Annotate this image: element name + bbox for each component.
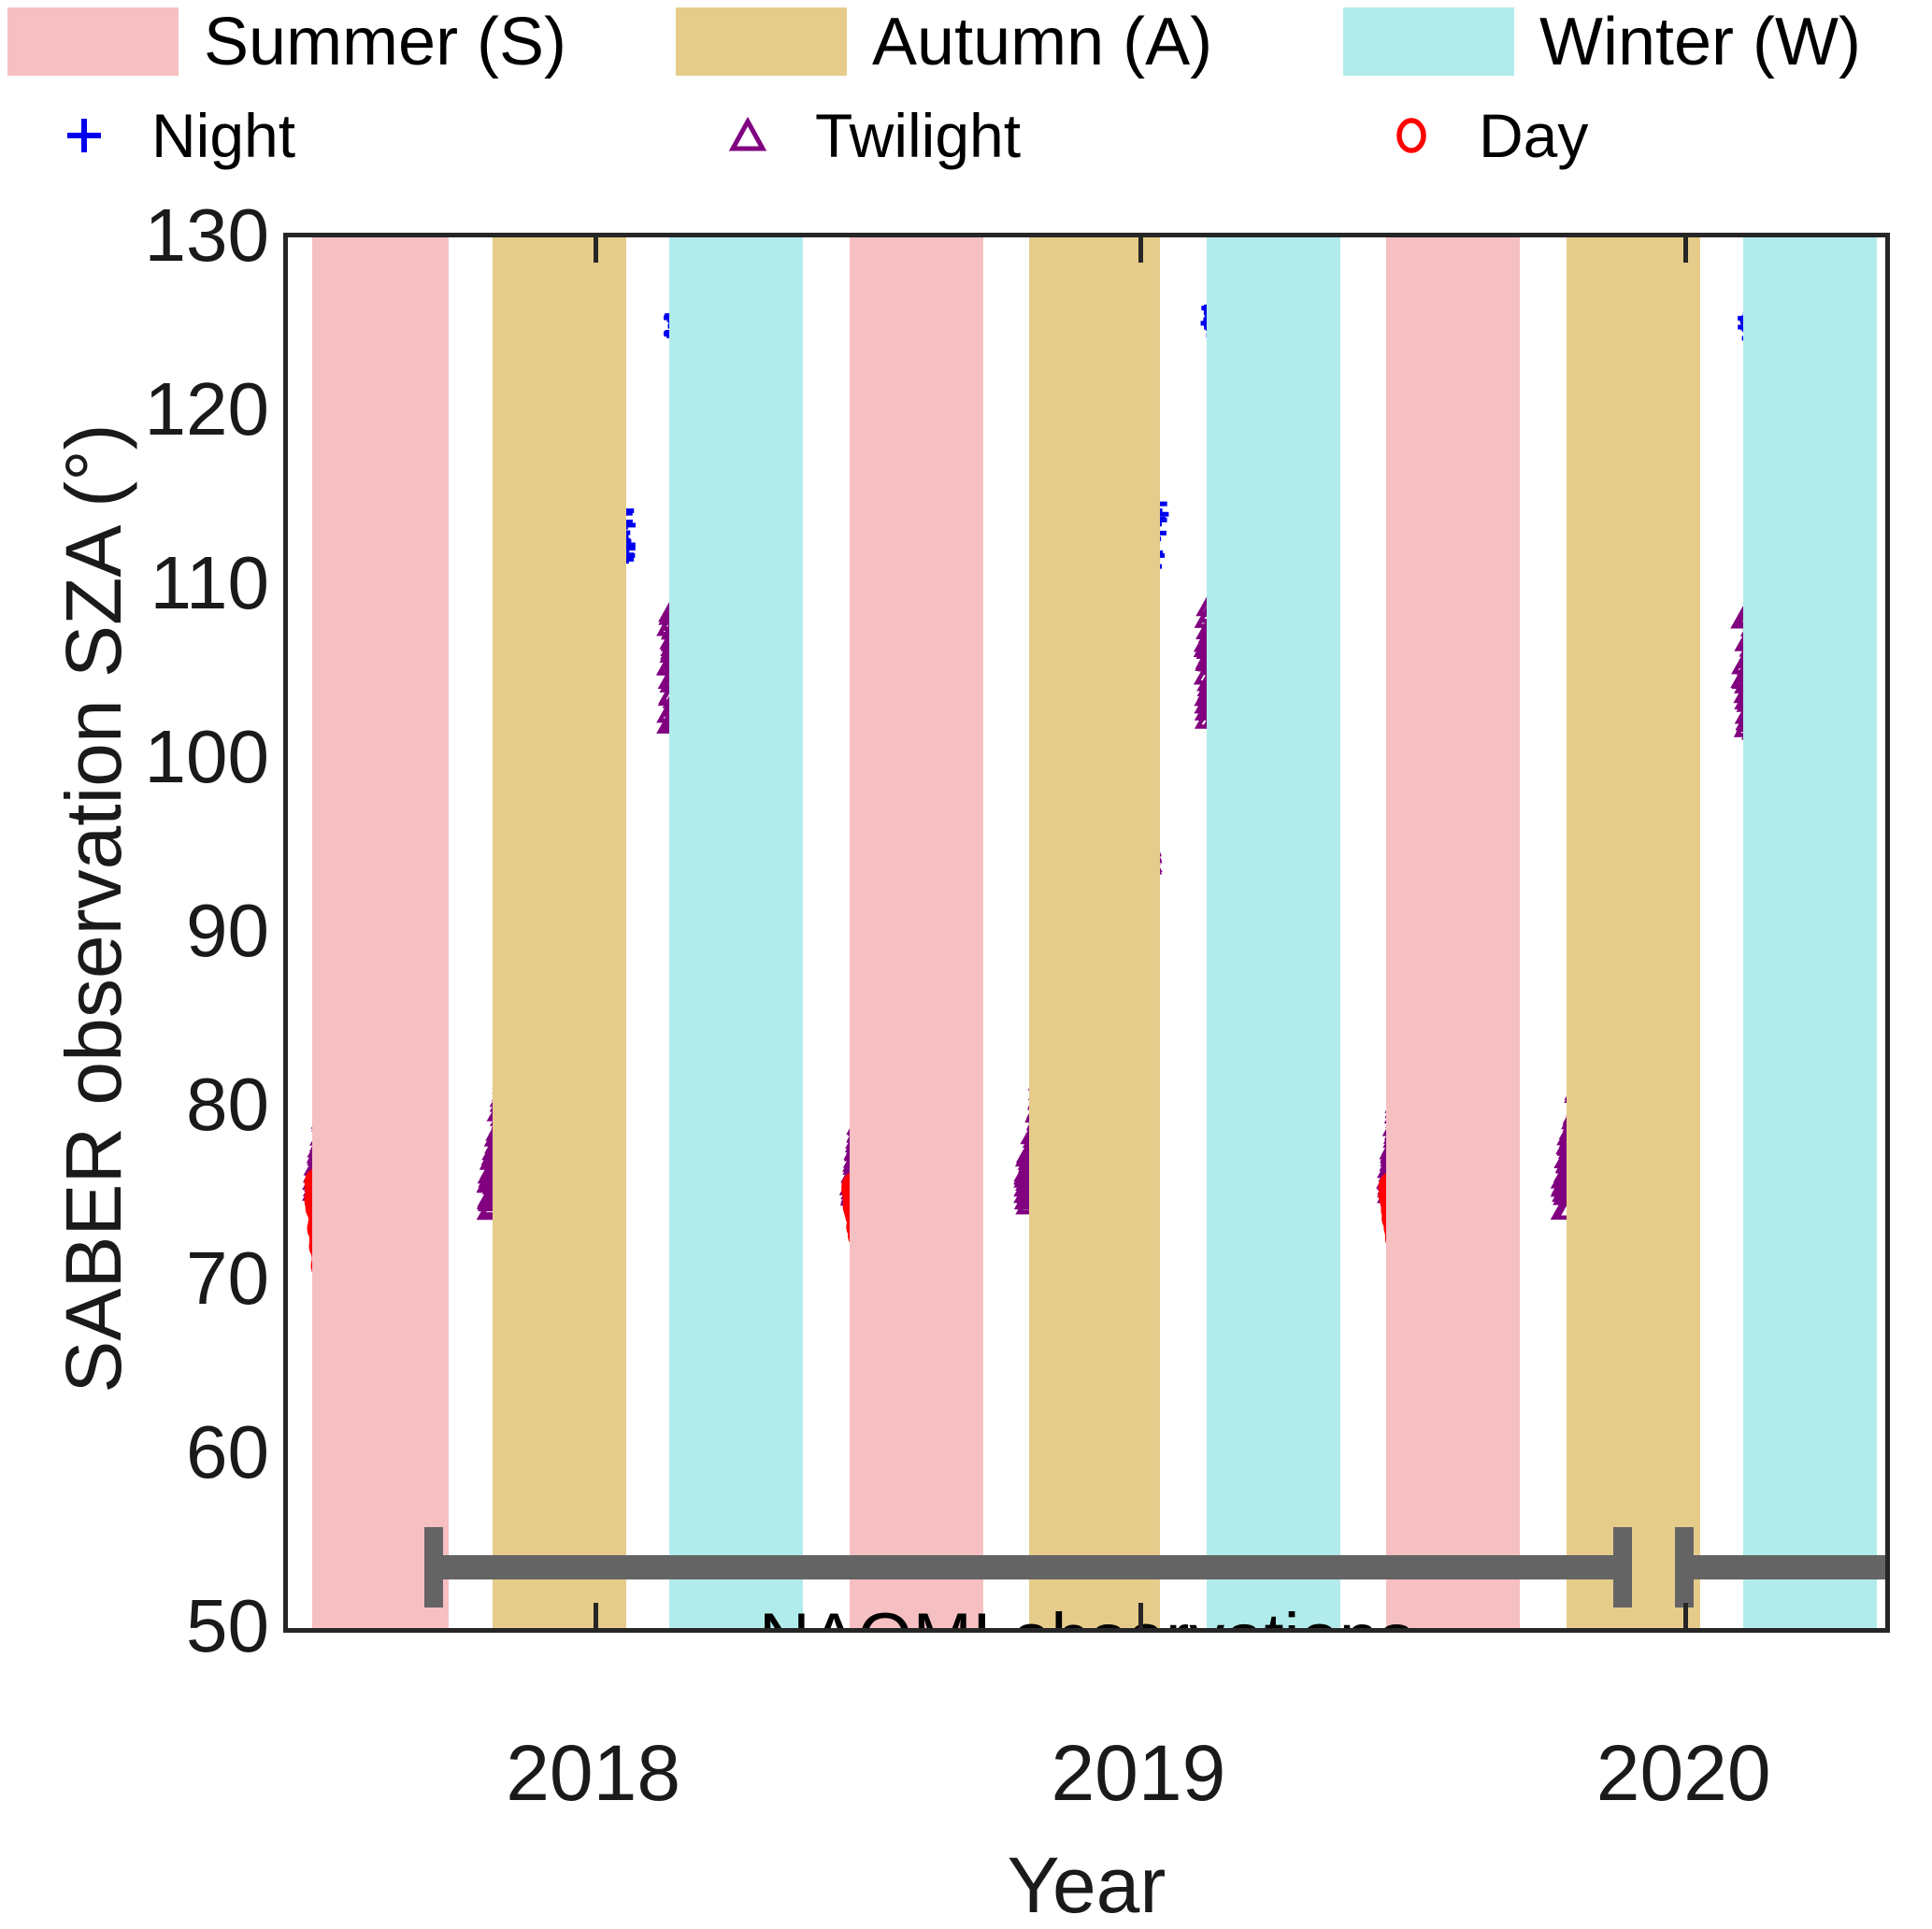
season-band-winter-5 [1207,237,1340,1628]
y-tick-label-120: 120 [45,372,269,447]
plot-area: NAOMI observations [283,233,1890,1633]
y-tick-label-110: 110 [45,546,269,621]
season-band-autumn-1 [493,237,626,1628]
season-band-summer-6 [1386,237,1520,1628]
y-tick-label-70: 70 [45,1241,269,1316]
y-tick-label-90: 90 [45,893,269,968]
y-tick-label-60: 60 [45,1415,269,1490]
chart-figure: SABER observation SZA (°) 50607080901001… [0,0,1932,1922]
season-band-winter-2 [669,237,803,1628]
season-band-summer-0 [312,237,449,1628]
season-band-winter-8 [1743,237,1877,1628]
y-tick-label-80: 80 [45,1067,269,1142]
y-tick-label-50: 50 [45,1589,269,1664]
season-band-autumn-4 [1029,237,1160,1628]
y-tick-label-130: 130 [45,198,269,273]
season-band-summer-3 [850,237,983,1628]
season-band-autumn-7 [1567,237,1700,1628]
y-tick-label-100: 100 [45,720,269,794]
